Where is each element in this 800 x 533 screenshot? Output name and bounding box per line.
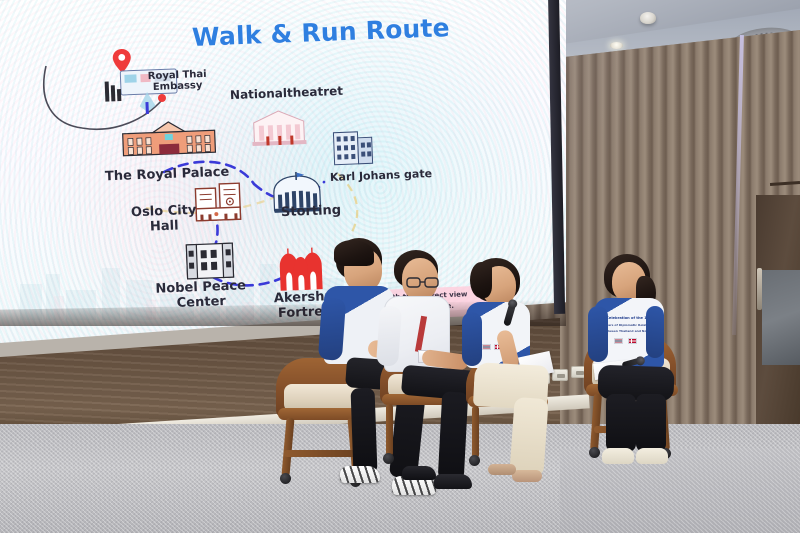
panelist-1-shoe-back [340, 466, 380, 483]
panelist-1-shin-back [351, 388, 378, 475]
panelist-3-sandal [512, 470, 542, 482]
panelist-2-glasses-icon [406, 276, 440, 288]
panelist-3-sandal-back [488, 464, 516, 475]
poi-label-oslo-city-hall: Oslo City Hall [117, 203, 210, 236]
panelist-4-shoe-left [602, 448, 634, 464]
panelist-2-shoe-back [402, 466, 436, 480]
panelist-4-shoe-right [636, 448, 668, 464]
palace-building-icon [118, 116, 220, 167]
smoke-detector-icon [640, 12, 656, 24]
norway-flag-icon [628, 338, 637, 344]
door-glass-panel [762, 270, 800, 365]
panelist-1-shirt-print [336, 322, 376, 336]
chair-caster [280, 473, 291, 484]
theatre-building-icon [247, 107, 311, 154]
downlight-icon [610, 42, 623, 49]
screenshot-root: Royal Thai Embassy Nationaltheatret The … [0, 0, 800, 533]
poi-label-storting: Storting [281, 204, 342, 221]
poi-label-royal-thai-embassy: Royal Thai Embassy [148, 69, 208, 94]
panelist-4: Celebration of the 120 Years of Diplomat… [588, 254, 698, 484]
door-handle[interactable] [757, 268, 762, 310]
thailand-flag-icon [614, 338, 623, 344]
thailand-flag-icon [482, 344, 491, 350]
panelist-3 [460, 258, 570, 508]
street-building-icon [329, 123, 377, 172]
